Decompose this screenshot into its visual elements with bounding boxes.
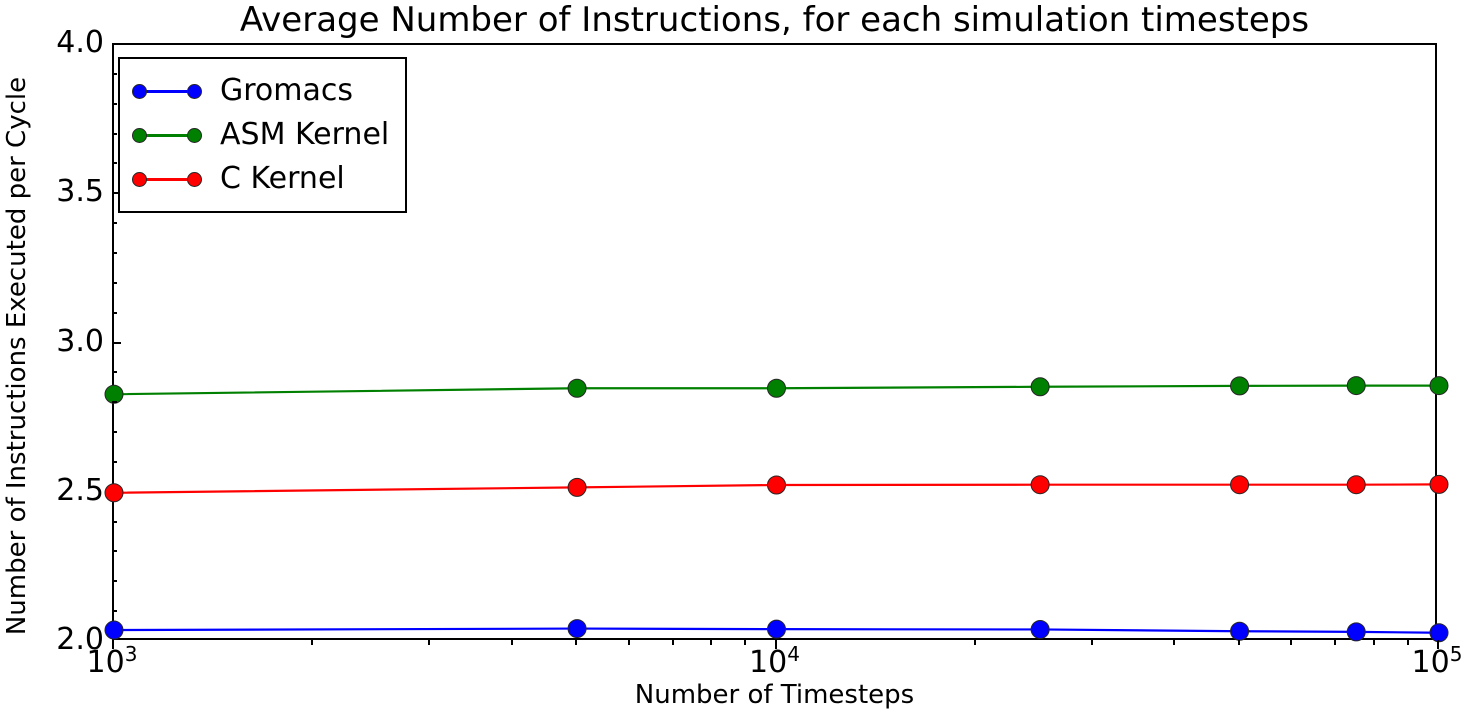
data-point (568, 620, 586, 638)
x-tick-label-1e5: 105 (1412, 646, 1463, 680)
y-tick-mark-minor (112, 252, 117, 254)
x-tick-label-1e3: 103 (87, 646, 138, 680)
data-point (105, 621, 123, 639)
figure-canvas: Average Number of Instructions, for each… (0, 0, 1469, 723)
data-point (1430, 624, 1448, 642)
y-tick-mark-minor (112, 401, 117, 403)
data-point (1031, 378, 1049, 396)
y-tick-mark-minor (112, 550, 117, 552)
data-point (1430, 377, 1448, 395)
data-point (105, 484, 123, 502)
x-tick-mark (672, 640, 674, 645)
data-point (1430, 475, 1448, 493)
legend-swatch-c-kernel (132, 169, 202, 189)
x-tick-mark (428, 640, 430, 645)
legend-label-asm-kernel: ASM Kernel (220, 119, 389, 151)
legend-item-c-kernel: C Kernel (132, 157, 389, 201)
y-tick-label-4-0: 4.0 (56, 28, 104, 58)
legend-item-gromacs: Gromacs (132, 69, 389, 113)
y-tick-mark-minor (112, 371, 117, 373)
y-tick-mark-minor (112, 282, 117, 284)
data-point (768, 476, 786, 494)
x-tick-mark (744, 640, 746, 645)
legend-swatch-gromacs (132, 81, 202, 101)
chart-title: Average Number of Instructions, for each… (112, 0, 1437, 42)
x-tick-mark (974, 640, 976, 645)
x-tick-mark (1373, 640, 1375, 645)
data-point (768, 379, 786, 397)
y-tick-mark-minor (112, 521, 117, 523)
legend-swatch-asm-kernel (132, 125, 202, 145)
y-tick-label-3-0: 3.0 (56, 327, 104, 357)
x-tick-mark (1091, 640, 1093, 645)
data-point (568, 478, 586, 496)
legend-marker-left-c-kernel (132, 172, 147, 187)
legend-marker-left-asm-kernel (132, 128, 147, 143)
x-tick-mark (1334, 640, 1336, 645)
y-tick-label-2-5: 2.5 (56, 476, 104, 506)
data-point (1031, 476, 1049, 494)
y-tick-mark-minor (112, 312, 117, 314)
data-point (768, 620, 786, 638)
x-tick-mark (311, 640, 313, 645)
x-tick-mark (511, 640, 513, 645)
x-tick-mark (1407, 640, 1409, 645)
y-tick-mark-minor (112, 73, 117, 75)
y-tick-mark-minor (112, 103, 117, 105)
y-tick-label-3-5: 3.5 (56, 177, 104, 207)
data-point (1231, 622, 1249, 640)
legend-item-asm-kernel: ASM Kernel (132, 113, 389, 157)
y-tick-mark-minor (112, 133, 117, 135)
legend-marker-right-gromacs (187, 84, 202, 99)
x-tick-label-1e4: 104 (749, 646, 800, 680)
y-tick-mark-minor (112, 580, 117, 582)
x-tick-mark (1290, 640, 1292, 645)
y-tick-mark-minor (112, 610, 117, 612)
y-tick-mark-minor (112, 461, 117, 463)
y-tick-mark-minor (112, 431, 117, 433)
x-axis-label: Number of Timesteps (112, 680, 1437, 710)
x-tick-mark (575, 640, 577, 645)
x-tick-mark (710, 640, 712, 645)
data-point (1031, 620, 1049, 638)
y-axis-tick-labels: 4.0 3.5 3.0 2.5 2.0 (0, 0, 104, 723)
legend-marker-left-gromacs (132, 84, 147, 99)
data-point (1347, 476, 1365, 494)
legend-marker-right-c-kernel (187, 172, 202, 187)
data-point (1347, 623, 1365, 641)
x-tick-mark (628, 640, 630, 645)
legend-label-c-kernel: C Kernel (220, 163, 345, 195)
data-point (1231, 476, 1249, 494)
y-tick-mark-minor (112, 222, 117, 224)
data-point (1347, 377, 1365, 395)
x-tick-mark (1173, 640, 1175, 645)
chart-legend: Gromacs ASM Kernel C Kernel (118, 57, 407, 213)
legend-label-gromacs: Gromacs (220, 75, 353, 107)
data-point (568, 379, 586, 397)
x-tick-mark (1238, 640, 1240, 645)
legend-marker-right-asm-kernel (187, 128, 202, 143)
y-tick-mark-minor (112, 162, 117, 164)
data-point (1231, 377, 1249, 395)
